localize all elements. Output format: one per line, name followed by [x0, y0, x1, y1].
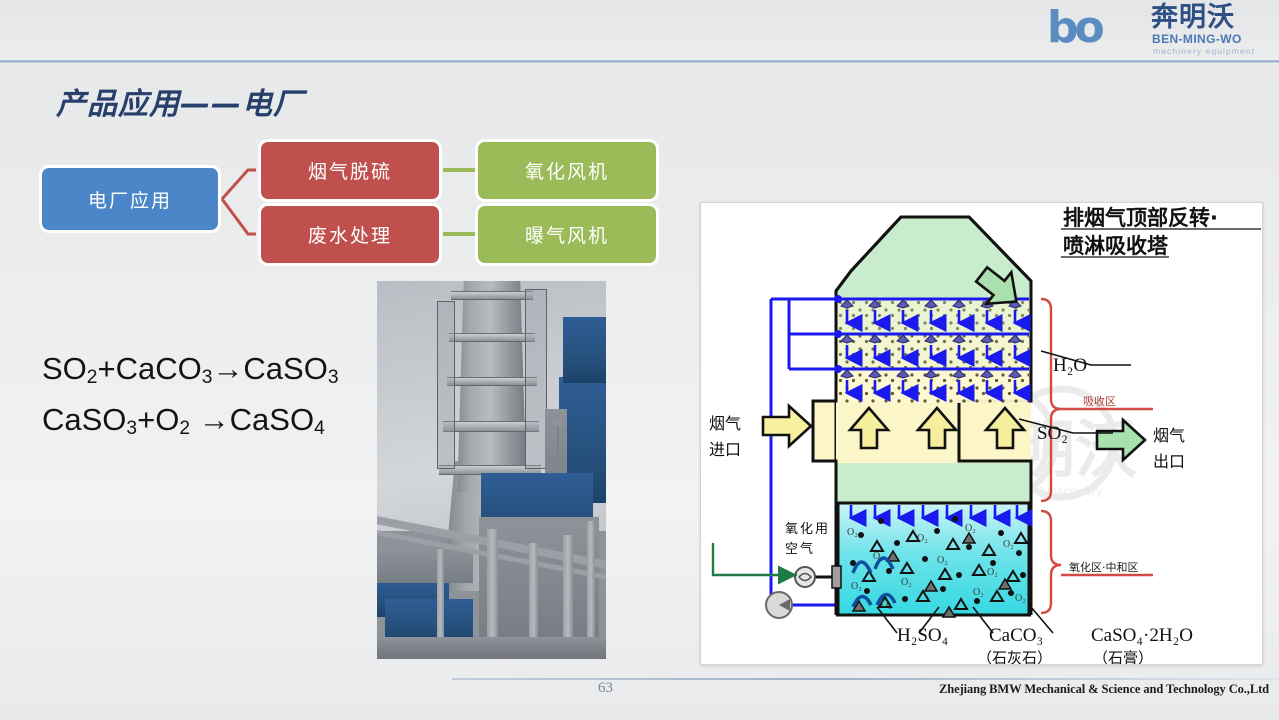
formula-1-reactants: CaSO3+O2 [42, 402, 199, 437]
diagram-title-line2: 喷淋吸收塔 [1063, 234, 1169, 258]
page-title: 产品应用——电厂 [56, 79, 304, 123]
photo-column-3 [437, 549, 444, 645]
photo-tower-ring-2 [447, 377, 537, 386]
photo-column-2 [563, 535, 573, 645]
formula-0-reactants: SO2+CaCO3 [42, 351, 212, 386]
svg-text:O₂: O₂ [937, 555, 948, 566]
photo-column-1 [529, 543, 538, 645]
svg-text:O₂: O₂ [901, 577, 912, 588]
label-oxidation-air-line1: 氧化用 [785, 522, 830, 537]
flowchart-connector-green-0 [443, 168, 475, 172]
svg-text:O₂: O₂ [973, 587, 984, 598]
photo-tower-upper [455, 281, 529, 492]
photo-column-0 [487, 529, 498, 645]
formula-1-arrow: → [199, 402, 230, 437]
label-caco3-cn: （石灰石） [977, 649, 1052, 665]
diagram-title-line1: 排烟气顶部反转· [1063, 206, 1218, 230]
pipe-junction-1 [834, 330, 842, 338]
spray-layers [838, 299, 1029, 403]
label-oxidation-neutral-zone: 氧化区·中和区 [1069, 560, 1139, 574]
flowchart-node-process-1-label: 废水处理 [308, 221, 392, 248]
label-caso4-cn: （石膏） [1093, 649, 1153, 665]
label-gas-inlet-line1: 烟气 [709, 414, 741, 433]
photo-light-pole [557, 423, 559, 457]
company-logo: bo 奔明沃 BEN-MING-WO machinery equipment [1039, 2, 1271, 58]
label-oxidation-air-line2: 空气 [785, 541, 815, 557]
label-so2: SO₂ [1037, 423, 1068, 444]
flowchart-node-process-0-label: 烟气脱硫 [308, 157, 392, 184]
label-caco3: CaCO₃ [989, 625, 1043, 646]
desulfurization-plant-photo [377, 281, 606, 659]
footer-company-name: Zhejiang BMW Mechanical & Science and Te… [939, 682, 1269, 697]
oxidation-air-blower [795, 566, 841, 588]
chemical-formula-row-1: CaSO3+O2 →CaSO4 [42, 399, 339, 450]
logo-english-name: BEN-MING-WO [1152, 33, 1242, 46]
formula-0-arrow: → [212, 351, 243, 386]
flowchart-node-source[interactable]: 电厂应用 [42, 168, 218, 230]
formula-1-products: CaSO4 [230, 402, 325, 437]
absorber-tower-schematic: 奔明沃 BEN-MING-WO machinery [701, 203, 1263, 665]
page-number: 63 [598, 680, 613, 697]
svg-text:O₂: O₂ [847, 527, 858, 538]
formula-0-products: CaSO3 [243, 351, 338, 386]
photo-tower-stairs [525, 289, 547, 469]
flowchart-node-source-label: 电厂应用 [88, 186, 172, 213]
chemical-formulas: SO2+CaCO3→CaSO3 CaSO3+O2 →CaSO4 [42, 348, 339, 450]
pipe-junction-0 [834, 295, 842, 303]
flowchart-node-equipment-0[interactable]: 氧化风机 [478, 142, 656, 199]
svg-text:O₂: O₂ [881, 599, 892, 610]
svg-text:O₂: O₂ [1015, 593, 1026, 604]
photo-tower-ring-0 [451, 291, 533, 300]
flowchart-node-process-1[interactable]: 废水处理 [261, 206, 439, 263]
svg-text:O₂: O₂ [987, 567, 998, 578]
logo-mark-icon: bo [1047, 6, 1101, 50]
photo-gray-shed-left [377, 549, 473, 583]
tower-inlet-duct [813, 401, 836, 461]
label-gas-inlet-line2: 进口 [709, 440, 741, 459]
svg-text:O₂: O₂ [851, 581, 862, 592]
label-h2o: H₂O [1053, 355, 1087, 376]
pipe-junction-2 [834, 365, 842, 373]
chemical-formula-row-0: SO2+CaCO3→CaSO3 [42, 348, 339, 399]
label-absorption-zone: 吸收区 [1083, 394, 1116, 408]
photo-blue-structure-top [563, 317, 606, 383]
logo-chinese-name: 奔明沃 [1151, 3, 1235, 33]
photo-tower-ladder [437, 301, 455, 469]
svg-text:O₂: O₂ [917, 533, 928, 544]
application-flowchart: 电厂应用 烟气脱硫 废水处理 氧化风机 曝气风机 [0, 140, 680, 280]
flowchart-node-equipment-1-label: 曝气风机 [525, 221, 609, 248]
photo-column-4 [587, 521, 595, 645]
flowchart-node-process-0[interactable]: 烟气脱硫 [261, 142, 439, 199]
label-gas-outlet-line2: 出口 [1153, 452, 1185, 471]
label-gas-outlet-line1: 烟气 [1153, 426, 1185, 445]
svg-text:O₂: O₂ [1003, 539, 1014, 550]
svg-text:O₂: O₂ [965, 523, 976, 534]
label-h2so4: H₂SO₄ [897, 625, 948, 646]
flowchart-node-equipment-0-label: 氧化风机 [525, 157, 609, 184]
photo-tower-ring-1 [449, 333, 535, 342]
flowchart-connector-green-1 [443, 232, 475, 236]
header-divider [0, 60, 1279, 63]
photo-ground [377, 637, 606, 659]
absorber-tower-diagram: 奔明沃 BEN-MING-WO machinery [700, 202, 1263, 665]
label-caso4: CaSO₄·2H₂O [1091, 625, 1193, 646]
logo-tagline: machinery equipment [1153, 46, 1255, 56]
recycle-pump-icon [766, 592, 792, 618]
flowchart-node-equipment-1[interactable]: 曝气风机 [478, 206, 656, 263]
photo-light-head [553, 421, 563, 426]
footer-divider [452, 678, 1279, 680]
